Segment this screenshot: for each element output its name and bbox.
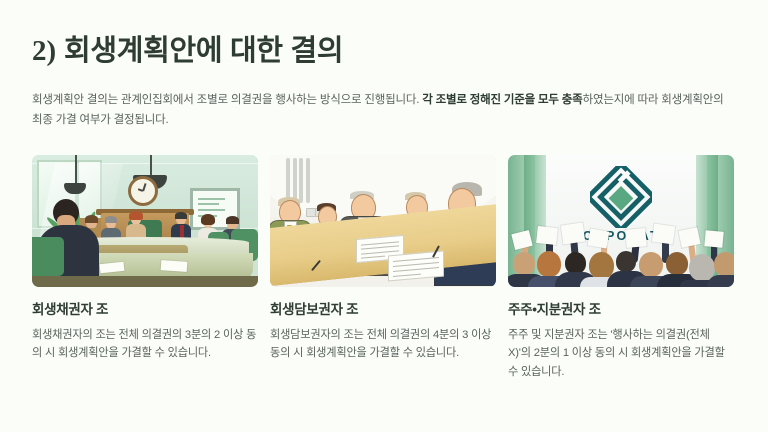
page-title-number: 2) (32, 35, 56, 67)
intro-text-part1: 회생계획안 결의는 관계인집회에서 조별로 의결권을 행사하는 방식으로 진행됩… (32, 94, 422, 106)
slide-root: 2) 회생계획안에 대한 결의 회생계획안 결의는 관계인집회에서 조별로 의결… (0, 0, 768, 432)
page-title: 2) 회생계획안에 대한 결의 (32, 0, 736, 69)
shareholders-voting-illustration: CORPORATE (508, 155, 734, 287)
intro-text-emphasis: 각 조별로 정해진 기준을 모두 충족 (422, 94, 582, 106)
boardroom-meeting-illustration (32, 155, 258, 287)
card-row: 회생채권자 조 회생채권자의 조는 전체 의결권의 3분의 2 이상 동의 시 … (32, 155, 736, 382)
card-body-recovery-creditors: 회생채권자의 조는 전체 의결권의 3분의 2 이상 동의 시 회생계획안을 가… (32, 319, 258, 364)
card-body-secured-creditors: 회생담보권자의 조는 전체 의결권의 4분의 3 이상 동의 시 회생계획안을 … (270, 319, 496, 364)
card-title-recovery-creditors: 회생채권자 조 (32, 287, 258, 319)
card-shareholders: CORPORATE (508, 155, 734, 382)
intro-paragraph: 회생계획안 결의는 관계인집회에서 조별로 의결권을 행사하는 방식으로 진행됩… (32, 69, 736, 131)
card-secured-creditors: 회생담보권자 조 회생담보권자의 조는 전체 의결권의 4분의 3 이상 동의 … (270, 155, 496, 382)
page-title-text: 회생계획안에 대한 결의 (64, 35, 343, 67)
cartoon-meeting-illustration (270, 155, 496, 287)
card-body-shareholders: 주주 및 지분권자 조는 '행사하는 의결권(전체 X)'의 2분의 1 이상 … (508, 319, 734, 382)
wall-clock-icon (128, 176, 158, 206)
card-recovery-creditors: 회생채권자 조 회생채권자의 조는 전체 의결권의 3분의 2 이상 동의 시 … (32, 155, 258, 382)
card-title-shareholders: 주주•지분권자 조 (508, 287, 734, 319)
card-title-secured-creditors: 회생담보권자 조 (270, 287, 496, 319)
corporate-logo-icon (590, 166, 652, 228)
